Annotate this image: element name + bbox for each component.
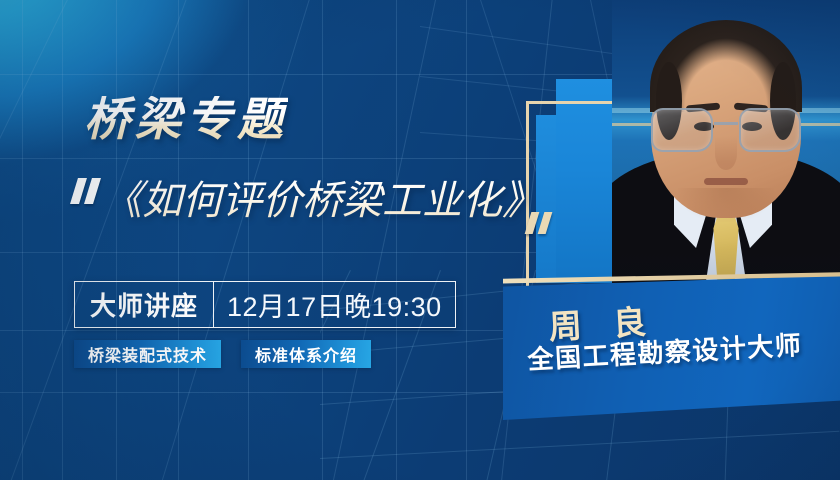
quote-close-icon — [528, 212, 554, 234]
poster-canvas: 桥梁专题 《如何评价桥梁工业化》 大师讲座 12月17日晚19:30 桥梁装配式… — [0, 0, 840, 480]
speaker-name-text-group: 周 良 全国工程勘察设计大师 — [503, 256, 840, 420]
portrait-fade-overlay — [612, 0, 840, 300]
topic-tags: 桥梁装配式技术 标准体系介绍 — [74, 340, 371, 368]
lecture-datetime: 12月17日晚19:30 — [214, 282, 455, 327]
lecture-type-label: 大师讲座 — [75, 282, 214, 327]
page-title: 桥梁专题 — [84, 96, 288, 142]
topic-tag-2: 标准体系介绍 — [241, 340, 371, 368]
quote-open-icon — [74, 178, 102, 204]
topic-tag-1: 桥梁装配式技术 — [74, 340, 221, 368]
subtitle: 《如何评价桥梁工业化》 — [102, 178, 542, 224]
speaker-portrait — [612, 0, 840, 300]
lecture-info-box: 大师讲座 12月17日晚19:30 — [74, 281, 456, 328]
